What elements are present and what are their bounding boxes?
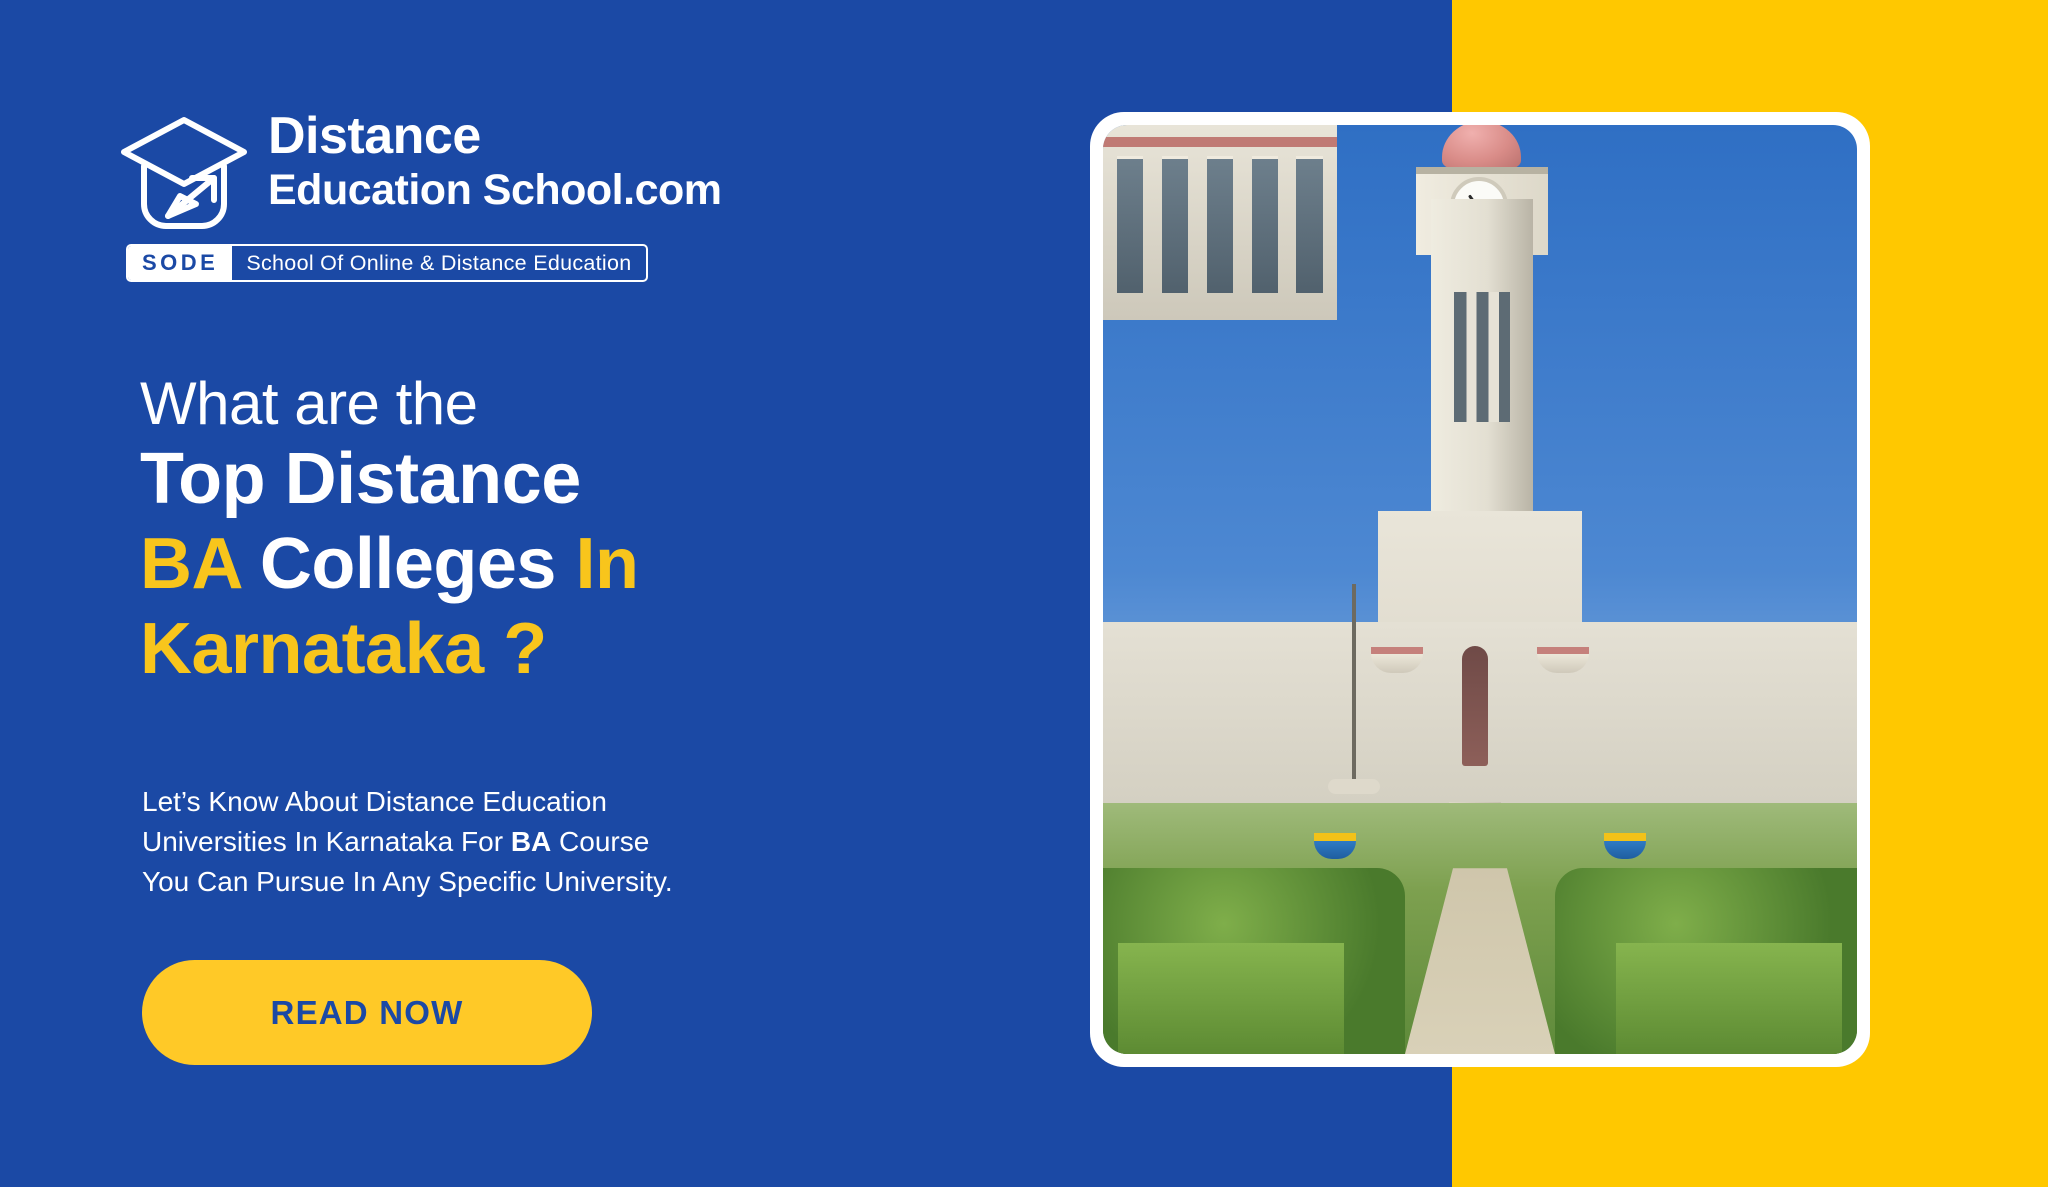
brand-logo[interactable]: Distance Education School.com SODE Schoo… <box>118 108 778 282</box>
university-building-photo <box>1103 125 1857 1054</box>
tower-dome <box>1442 125 1521 170</box>
window <box>1162 156 1188 293</box>
read-now-label: READ NOW <box>271 994 464 1032</box>
tagline-text: School Of Online & Distance Education <box>232 246 645 280</box>
headline-line-4: Karnataka ? <box>140 607 940 692</box>
tower-louvre-vents <box>1454 292 1511 422</box>
window <box>1252 156 1278 293</box>
brand-tagline: SODE School Of Online & Distance Educati… <box>126 244 648 282</box>
brand-wordmark: Distance Education School.com <box>268 108 722 215</box>
promo-banner: Distance Education School.com SODE Schoo… <box>0 0 2048 1187</box>
window <box>1117 156 1143 293</box>
headline-accent-ba: BA <box>140 524 240 604</box>
left-building-wing <box>1103 125 1337 320</box>
subtitle-line-2-post: Course <box>551 826 649 857</box>
left-content-column: Distance Education School.com SODE Schoo… <box>0 0 1060 1187</box>
headline: What are the Top Distance BA Colleges In… <box>140 370 940 692</box>
subtitle-bold-ba: BA <box>511 826 551 857</box>
brand-name-line2: Education School.com <box>268 166 722 215</box>
headline-line-1: What are the <box>140 370 940 437</box>
headline-word-colleges: Colleges <box>260 524 556 604</box>
subtitle-line-1: Let’s Know About Distance Education <box>142 786 607 817</box>
headline-accent-in: In <box>575 524 638 604</box>
window <box>1207 156 1233 293</box>
left-lawn <box>1118 943 1344 1054</box>
feature-image-card[interactable] <box>1090 112 1870 1067</box>
graduation-cap-arrow-icon <box>118 112 250 230</box>
street-lamp-post <box>1352 584 1356 794</box>
subtitle: Let’s Know About Distance Education Univ… <box>142 782 902 901</box>
brand-name-line1: Distance <box>268 110 722 162</box>
headline-line-3: BA Colleges In <box>140 522 940 607</box>
subtitle-line-3: You Can Pursue In Any Specific Universit… <box>142 866 673 897</box>
window <box>1296 156 1322 293</box>
left-wing-roof-trim <box>1103 137 1337 147</box>
subtitle-line-2-pre: Universities In Karnataka For <box>142 826 511 857</box>
headline-line-2: Top Distance <box>140 437 940 522</box>
bronze-statue <box>1462 646 1488 766</box>
street-lamp-head <box>1328 779 1380 794</box>
sode-badge: SODE <box>128 246 232 280</box>
right-lawn <box>1616 943 1842 1054</box>
read-now-button[interactable]: READ NOW <box>142 960 592 1065</box>
left-wing-window-grid <box>1117 156 1323 293</box>
